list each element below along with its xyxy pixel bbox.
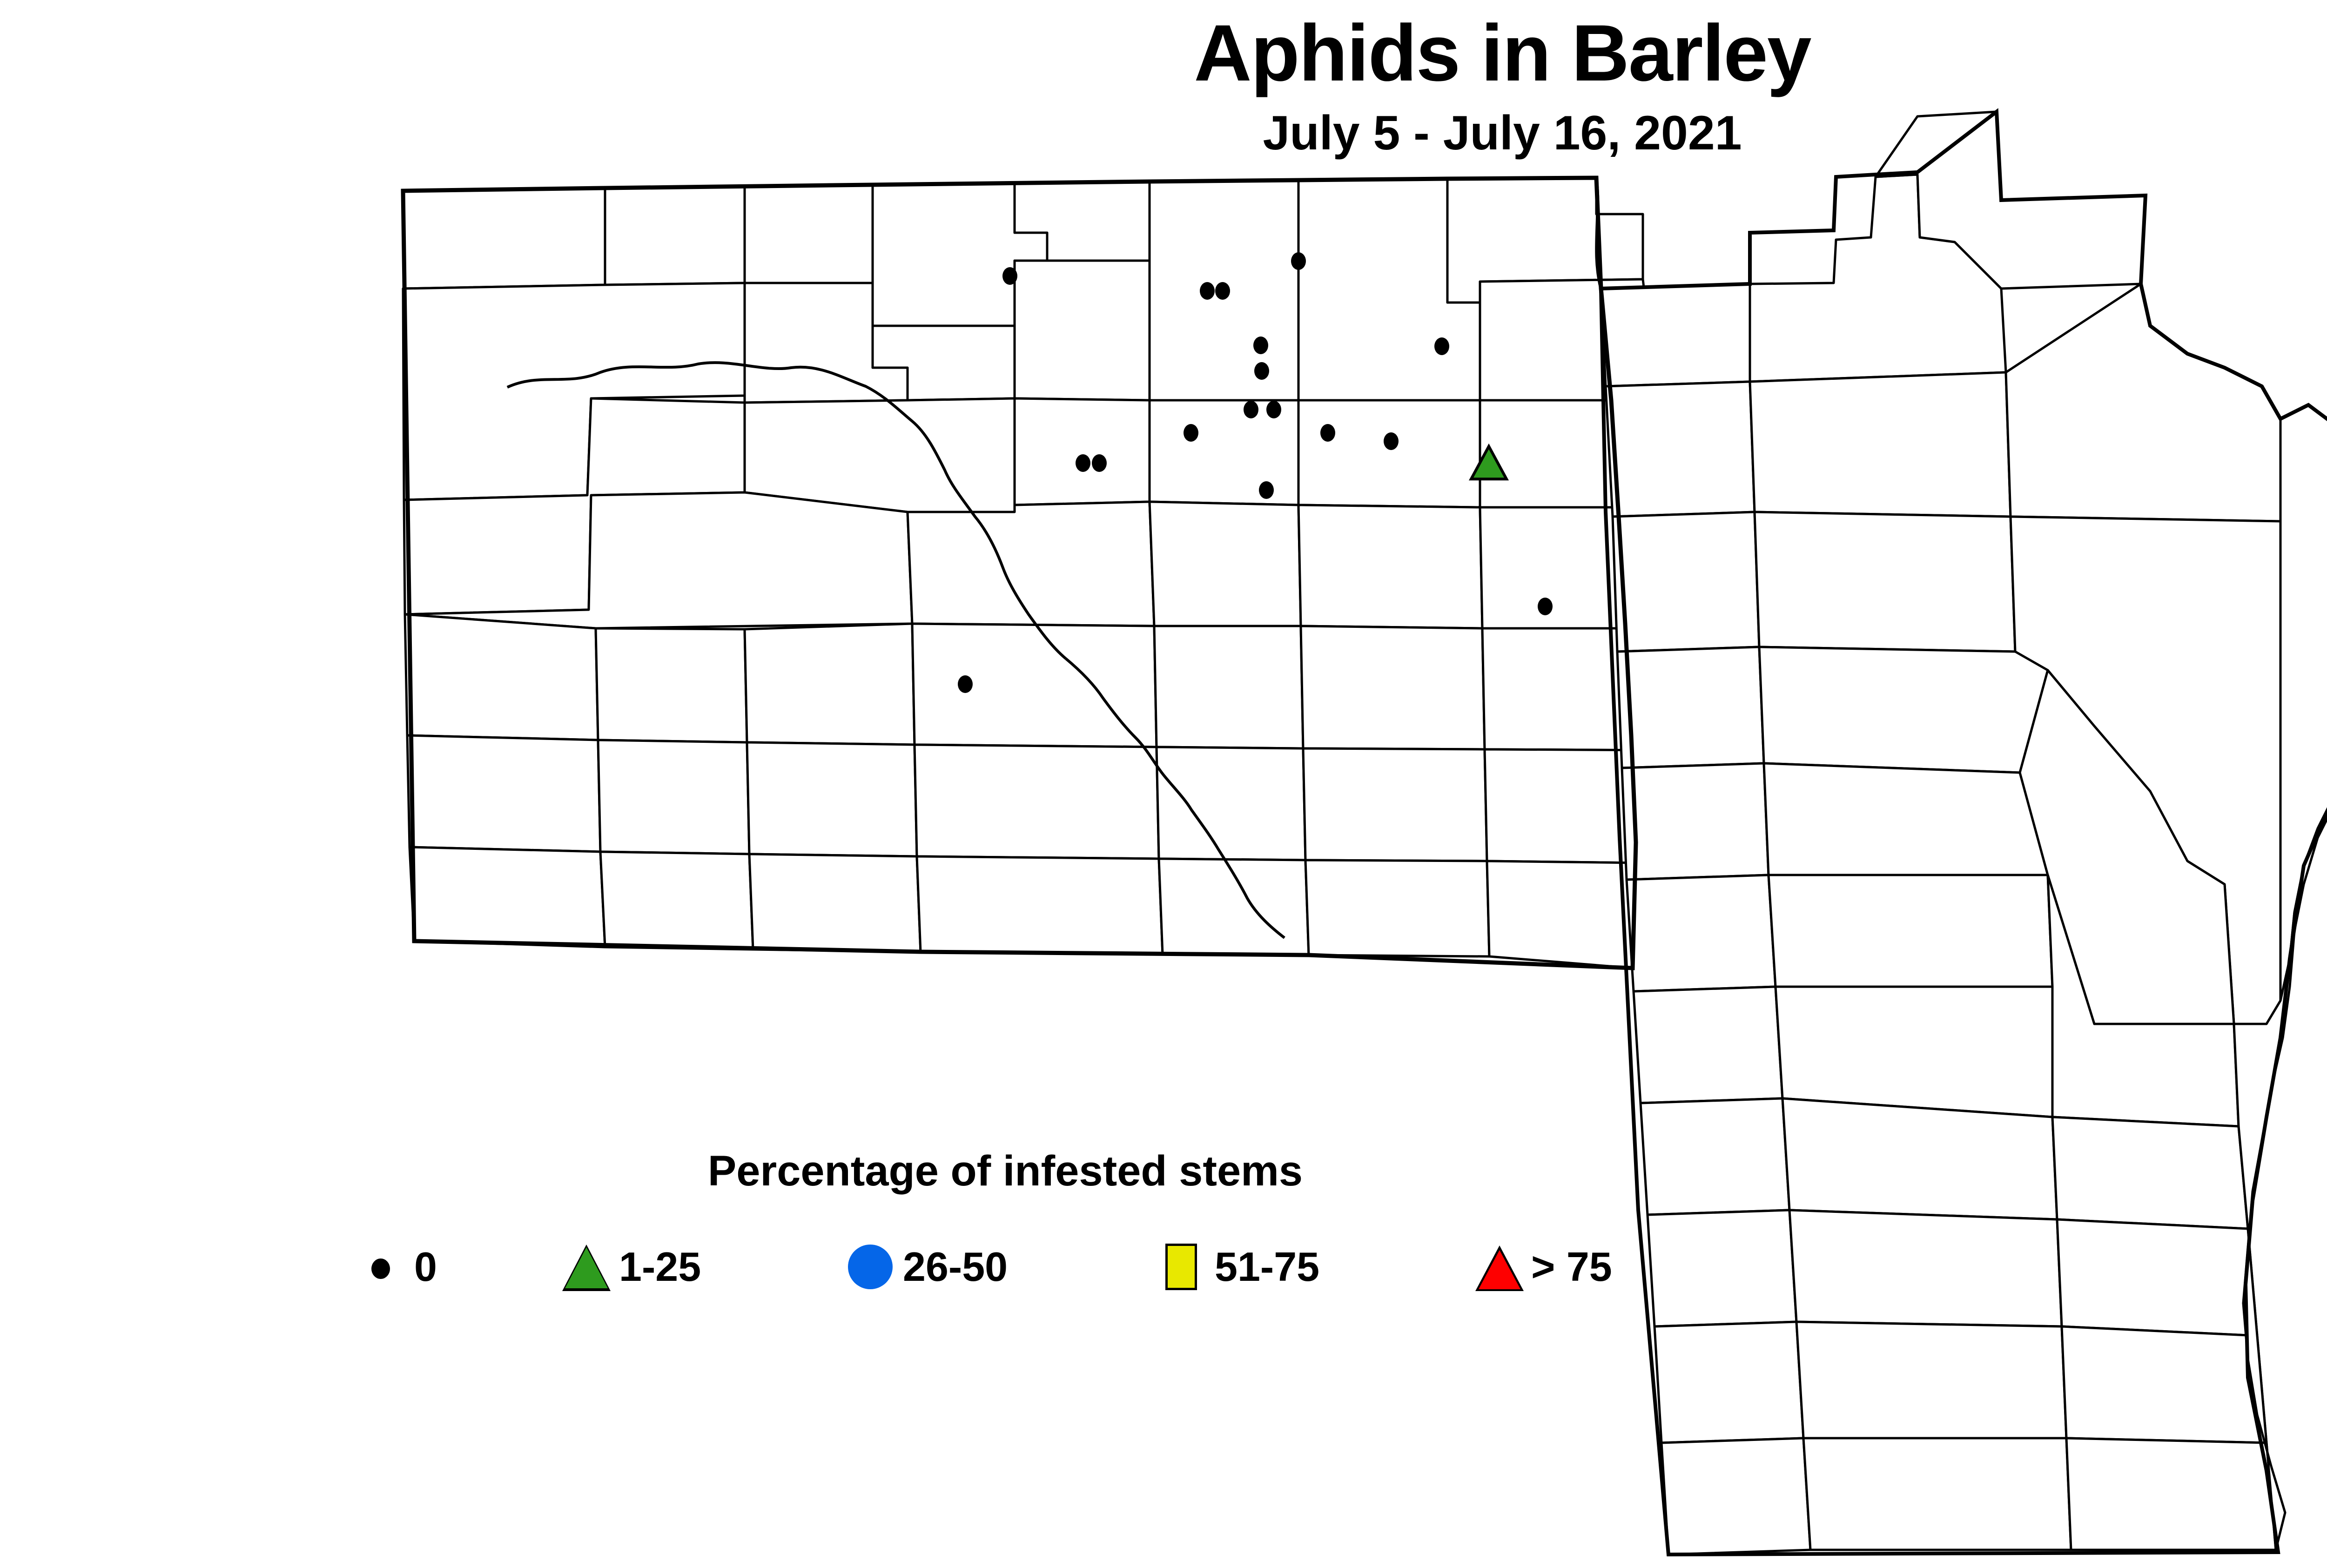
legend-item-51-75[interactable]: 51-75 — [1154, 1220, 1319, 1313]
legend-items-row: 0 1-25 26-50 51-75 — [354, 1220, 1657, 1313]
map-legend: Percentage of infested stems 0 1-25 — [354, 1150, 1657, 1317]
map-data-point[interactable] — [1215, 282, 1230, 300]
map-data-point[interactable] — [1076, 454, 1090, 472]
legend-item-0[interactable]: 0 — [354, 1220, 437, 1313]
legend-label-gt-75: > 75 — [1531, 1246, 1612, 1287]
blue-circle-icon — [842, 1239, 898, 1295]
north-dakota-counties — [403, 178, 1675, 968]
map-data-point[interactable] — [1002, 267, 1017, 285]
map-data-point[interactable] — [1266, 401, 1281, 418]
map-data-point[interactable] — [1291, 252, 1306, 270]
map-page: Aphids in Barley July 5 - July 16, 2021 — [0, 0, 2327, 1568]
map-data-point[interactable] — [1184, 424, 1198, 442]
map-data-point[interactable] — [1092, 454, 1107, 472]
map-data-point[interactable] — [958, 675, 973, 693]
legend-label-1-25: 1-25 — [619, 1246, 701, 1287]
red-triangle-icon — [1471, 1239, 1527, 1295]
map-data-point[interactable] — [1320, 424, 1335, 442]
yellow-square-icon — [1154, 1239, 1210, 1295]
legend-label-0: 0 — [414, 1246, 437, 1287]
map-data-point[interactable] — [1538, 598, 1553, 615]
map-data-point[interactable] — [1259, 481, 1274, 499]
map-data-point[interactable] — [1244, 401, 1258, 418]
green-triangle-icon — [558, 1239, 614, 1295]
legend-item-gt-75[interactable]: > 75 — [1471, 1220, 1612, 1313]
black-dot-icon — [354, 1239, 410, 1295]
map-data-point[interactable] — [1254, 362, 1269, 380]
map-canvas[interactable] — [0, 0, 2327, 1568]
legend-label-26-50: 26-50 — [903, 1246, 1008, 1287]
legend-title: Percentage of infested stems — [354, 1150, 1657, 1192]
north-dakota-minnesota-county-map[interactable] — [0, 0, 2327, 1568]
map-data-point[interactable] — [1434, 337, 1449, 355]
map-data-point[interactable] — [1384, 432, 1399, 450]
legend-label-51-75: 51-75 — [1215, 1246, 1319, 1287]
minnesota-counties — [1601, 112, 2327, 1555]
legend-item-26-50[interactable]: 26-50 — [842, 1220, 1008, 1313]
map-data-point[interactable] — [1253, 336, 1268, 354]
map-data-point[interactable] — [1200, 282, 1215, 300]
legend-item-1-25[interactable]: 1-25 — [558, 1220, 701, 1313]
